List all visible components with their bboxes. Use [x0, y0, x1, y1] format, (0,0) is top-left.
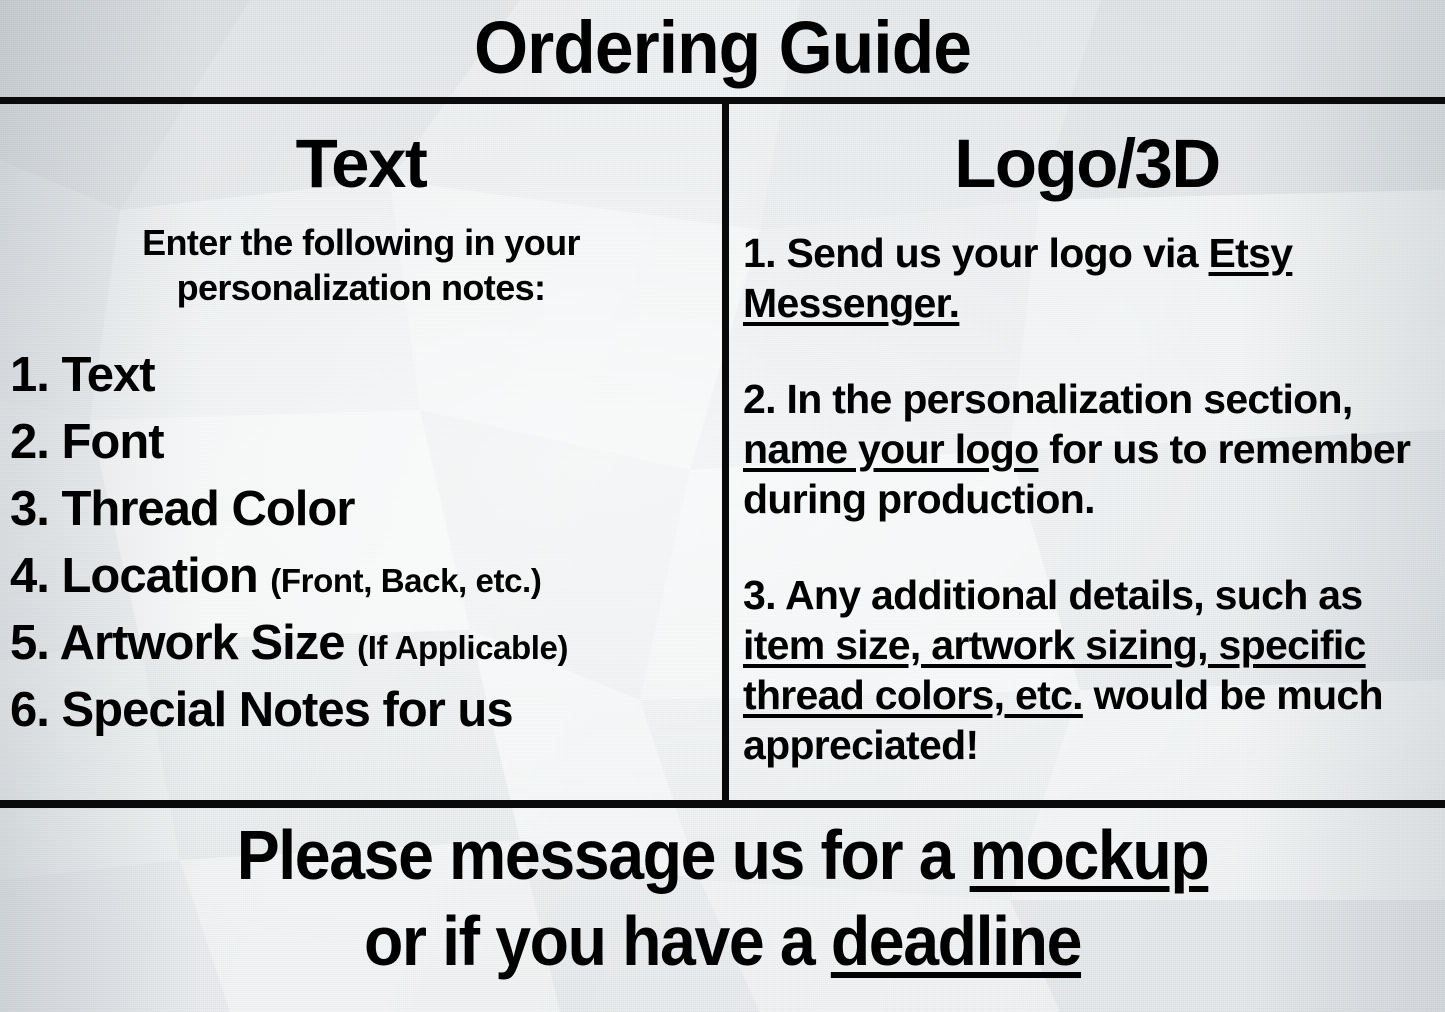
- column-logo-3d-heading: Logo/3D: [729, 122, 1445, 206]
- column-text-heading: Text: [0, 122, 722, 206]
- list-item: 1. Send us your logo via Etsy Messenger.: [743, 228, 1443, 328]
- list-item: 2. In the personalization section, name …: [743, 374, 1443, 524]
- footer-line-2-before: or if you have a: [364, 902, 831, 980]
- footer-line-1-underlined: mockup: [970, 816, 1209, 894]
- list-item: 3. Thread Color: [10, 478, 718, 545]
- list-item-number: 5.: [10, 616, 49, 670]
- list-item-note: (If Applicable): [357, 629, 568, 666]
- list-item-label: Thread Color: [62, 482, 355, 536]
- list-item-label: Location: [62, 549, 258, 603]
- list-item-text-before: Any additional details, such as: [785, 572, 1363, 618]
- list-item-number: 3.: [743, 572, 776, 618]
- footer-line-1: Please message us for a mockup: [58, 812, 1387, 898]
- column-text-subheading: Enter the following in your personalizat…: [0, 220, 722, 310]
- subheading-line-1: Enter the following in your: [46, 220, 676, 265]
- page-title: Ordering Guide: [43, 1, 1401, 95]
- list-item-number: 2.: [743, 376, 776, 422]
- list-item-text-before: In the personalization section,: [787, 376, 1353, 422]
- list-item: 3. Any additional details, such as item …: [743, 570, 1443, 770]
- footer-message: Please message us for a mockup or if you…: [0, 812, 1445, 984]
- list-item: 5. Artwork Size (If Applicable): [10, 612, 718, 679]
- list-item-number: 3.: [10, 482, 49, 536]
- list-item-text-before: Send us your logo via: [787, 230, 1209, 276]
- divider-horizontal-bottom: [0, 800, 1445, 808]
- ordering-guide-poster: Ordering Guide Text Enter the following …: [0, 0, 1445, 1012]
- footer-line-2: or if you have a deadline: [58, 898, 1387, 984]
- column-logo-3d: Logo/3D 1. Send us your logo via Etsy Me…: [729, 104, 1445, 800]
- list-item-number: 4.: [10, 549, 49, 603]
- list-item-number: 1.: [743, 230, 776, 276]
- list-item: 1. Text: [10, 344, 718, 411]
- list-item: 2. Font: [10, 411, 718, 478]
- list-item-note: (Front, Back, etc.): [270, 562, 541, 599]
- divider-vertical-center: [722, 104, 729, 801]
- list-item-text-underlined: name your logo: [743, 426, 1038, 472]
- column-text: Text Enter the following in your persona…: [0, 104, 722, 800]
- list-item-number: 1.: [10, 348, 49, 402]
- list-item-label: Special Notes for us: [62, 683, 513, 737]
- list-item-number: 2.: [10, 415, 49, 469]
- list-item: 4. Location (Front, Back, etc.): [10, 545, 718, 612]
- list-item-label: Artwork Size: [60, 616, 345, 670]
- logo-instructions-list: 1. Send us your logo via Etsy Messenger.…: [729, 228, 1445, 770]
- footer-line-2-underlined: deadline: [831, 902, 1081, 980]
- list-item-number: 6.: [10, 683, 49, 737]
- list-item-label: Text: [62, 348, 155, 402]
- list-item-label: Font: [62, 415, 164, 469]
- text-requirements-list: 1. Text 2. Font 3. Thread Color 4. Locat…: [0, 344, 722, 746]
- footer-line-1-before: Please message us for a: [237, 816, 970, 894]
- divider-horizontal-top: [0, 97, 1445, 104]
- subheading-line-2: personalization notes:: [46, 265, 676, 310]
- list-item: 6. Special Notes for us: [10, 679, 718, 746]
